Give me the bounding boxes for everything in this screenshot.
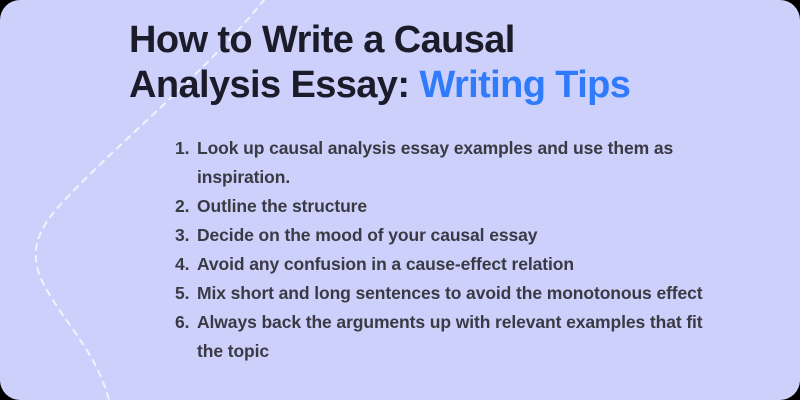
- list-item-number: 1.: [175, 134, 197, 163]
- list-item: 5. Mix short and long sentences to avoid…: [175, 279, 715, 308]
- title-accent-text: Writing Tips: [419, 64, 630, 106]
- list-item-text: Look up causal analysis essay examples a…: [197, 134, 715, 192]
- list-item-number: 5.: [175, 279, 197, 308]
- title-line-2: Analysis Essay: Writing Tips: [129, 63, 749, 108]
- list-item-number: 2.: [175, 192, 197, 221]
- list-item-text: Decide on the mood of your causal essay: [197, 221, 715, 250]
- list-item-text: Mix short and long sentences to avoid th…: [197, 279, 715, 308]
- list-item: 2. Outline the structure: [175, 192, 715, 221]
- list-item-number: 4.: [175, 250, 197, 279]
- list-item-text: Avoid any confusion in a cause-effect re…: [197, 250, 715, 279]
- title-line-2-plain: Analysis Essay:: [129, 64, 419, 106]
- list-item-text: Outline the structure: [197, 192, 715, 221]
- title-line-1: How to Write a Causal: [129, 18, 749, 63]
- list-item-text: Always back the arguments up with releva…: [197, 308, 715, 366]
- list-item-number: 6.: [175, 308, 197, 337]
- list-item: 6. Always back the arguments up with rel…: [175, 308, 715, 366]
- tips-list: 1. Look up causal analysis essay example…: [175, 134, 715, 366]
- tips-card: How to Write a Causal Analysis Essay: Wr…: [0, 0, 800, 400]
- list-item: 4. Avoid any confusion in a cause-effect…: [175, 250, 715, 279]
- list-item: 3. Decide on the mood of your causal ess…: [175, 221, 715, 250]
- page-title: How to Write a Causal Analysis Essay: Wr…: [129, 18, 749, 108]
- list-item: 1. Look up causal analysis essay example…: [175, 134, 715, 192]
- list-item-number: 3.: [175, 221, 197, 250]
